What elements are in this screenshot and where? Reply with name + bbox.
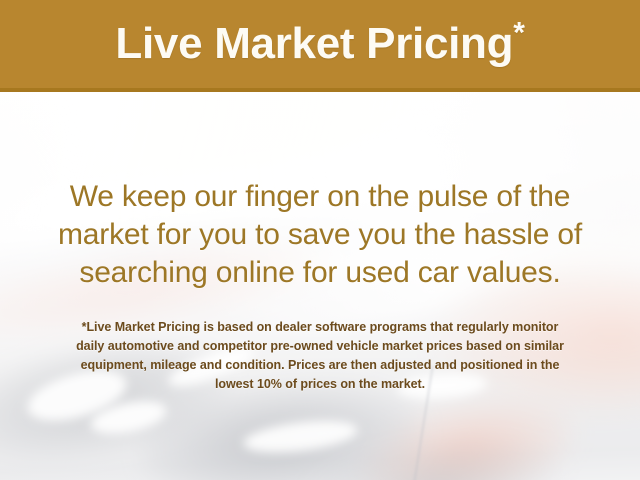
disclaimer-line: daily automotive and competitor pre-owne… [22, 337, 618, 356]
headline-line: searching online for used car values. [26, 254, 614, 292]
page-title: Live Market Pricing* [115, 22, 524, 70]
headline-paragraph: We keep our finger on the pulse of the m… [0, 178, 640, 292]
page-title-text: Live Market Pricing [115, 19, 513, 68]
disclaimer-line: lowest 10% of prices on the market. [22, 375, 618, 394]
headline-line: market for you to save you the hassle of [26, 216, 614, 254]
disclaimer-line: *Live Market Pricing is based on dealer … [22, 318, 618, 337]
headline-line: We keep our finger on the pulse of the [26, 178, 614, 216]
live-market-pricing-slide: Live Market Pricing* We keep our finger … [0, 0, 640, 480]
header-band: Live Market Pricing* [0, 0, 640, 92]
disclaimer-line: equipment, mileage and condition. Prices… [22, 356, 618, 375]
title-asterisk: * [513, 16, 524, 49]
disclaimer-paragraph: *Live Market Pricing is based on dealer … [0, 318, 640, 394]
